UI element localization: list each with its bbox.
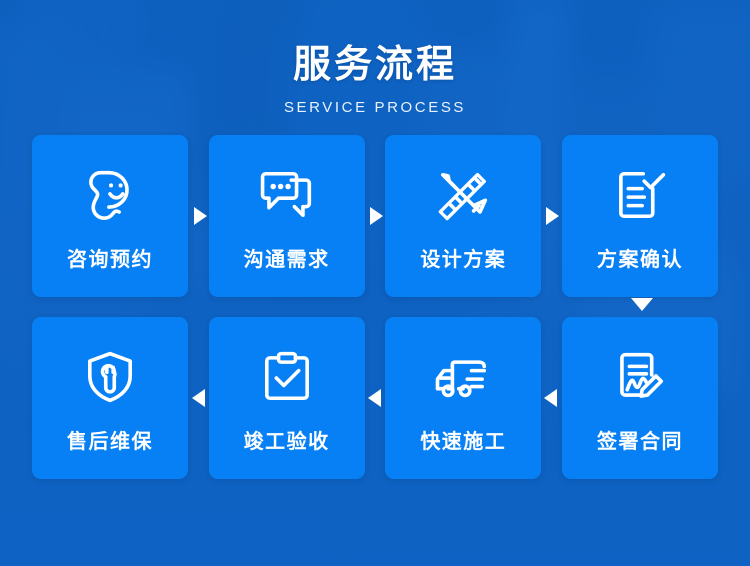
page-subtitle: SERVICE PROCESS — [0, 99, 750, 116]
connector-arrow-right — [194, 207, 207, 225]
process-card-label: 签署合同 — [597, 425, 683, 454]
document-check-icon — [603, 161, 677, 229]
process-card-label: 竣工验收 — [244, 425, 330, 454]
process-card-plan-confirm[interactable]: 方案确认 — [562, 135, 718, 297]
process-card-communication[interactable]: 沟通需求 — [209, 135, 365, 297]
process-card-design[interactable]: 设计方案 — [385, 135, 541, 297]
pencil-ruler-icon — [426, 161, 500, 229]
process-card-contract[interactable]: 签署合同 — [562, 317, 718, 479]
process-row-2: 售后维保 竣工验收 — [0, 317, 750, 479]
process-card-label: 咨询预约 — [67, 243, 153, 272]
process-card-label: 售后维保 — [67, 425, 153, 454]
connector-arrow-right — [370, 207, 383, 225]
page-title: 服务流程 — [0, 44, 750, 88]
phone-smile-icon — [73, 161, 147, 229]
process-card-after-sales[interactable]: 售后维保 — [32, 317, 188, 479]
service-process-section: 服务流程 SERVICE PROCESS 咨询预约 — [0, 0, 750, 566]
connector-arrow-right — [546, 207, 559, 225]
process-card-construction[interactable]: 快速施工 — [385, 317, 541, 479]
delivery-truck-icon — [426, 343, 500, 411]
process-card-consultation[interactable]: 咨询预约 — [32, 135, 188, 297]
connector-arrow-left — [368, 389, 381, 407]
process-card-label: 方案确认 — [597, 243, 683, 272]
shield-wrench-icon — [73, 343, 147, 411]
connector-arrow-down — [631, 298, 653, 311]
connector-arrow-left — [544, 389, 557, 407]
process-card-label: 设计方案 — [420, 243, 506, 272]
clipboard-check-icon — [250, 343, 324, 411]
process-row-1: 咨询预约 沟通需求 — [0, 135, 750, 297]
section-header: 服务流程 SERVICE PROCESS — [0, 0, 750, 116]
contract-sign-icon — [603, 343, 677, 411]
process-card-label: 沟通需求 — [244, 243, 330, 272]
connector-arrow-left — [192, 389, 205, 407]
process-card-acceptance[interactable]: 竣工验收 — [209, 317, 365, 479]
chat-bubbles-icon — [250, 161, 324, 229]
process-card-label: 快速施工 — [420, 425, 506, 454]
